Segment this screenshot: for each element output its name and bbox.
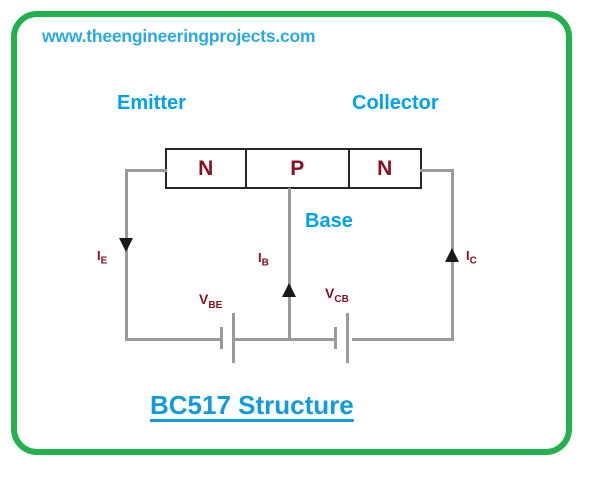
wire-emitter-top [126, 169, 167, 172]
battery-vbe-negative-plate [220, 327, 223, 349]
label-voltage-vcb-symbol: V [325, 285, 334, 301]
npn-structure-box: N P N [165, 148, 422, 189]
current-arrow-ic-icon [445, 248, 459, 262]
label-current-ic-subscript: C [470, 256, 477, 267]
battery-vcb-positive-plate [346, 313, 349, 363]
npn-cell-base-p: P [247, 150, 350, 187]
current-arrow-ib-icon [282, 283, 296, 297]
current-arrow-ie-icon [119, 238, 133, 252]
wire-base-vertical [288, 188, 291, 341]
label-collector: Collector [352, 92, 439, 115]
watermark-url: www.theengineeringprojects.com [42, 26, 315, 47]
wire-emitter-vertical [125, 169, 128, 341]
diagram-canvas: www.theengineeringprojects.com Emitter C… [0, 0, 600, 483]
label-emitter: Emitter [117, 92, 186, 115]
wire-collector-bottom [352, 338, 454, 341]
label-base: Base [305, 210, 353, 233]
green-border-frame [11, 11, 572, 455]
diagram-title: BC517 Structure [150, 390, 354, 421]
label-voltage-vcb-subscript: CB [334, 294, 348, 305]
label-current-ie: IE [97, 248, 107, 267]
wire-base-bottom-left [232, 338, 291, 341]
npn-cell-emitter-n: N [167, 150, 247, 187]
label-current-ic: IC [466, 248, 477, 267]
label-voltage-vbe-subscript: BE [208, 300, 222, 311]
battery-vbe-positive-plate [232, 313, 235, 363]
label-current-ib-subscript: B [262, 258, 269, 269]
label-current-ib: IB [258, 250, 269, 269]
label-voltage-vbe: VBE [199, 291, 222, 311]
label-voltage-vbe-symbol: V [199, 291, 208, 307]
wire-collector-top [420, 169, 454, 172]
wire-emitter-bottom [125, 338, 221, 341]
npn-cell-collector-n: N [350, 150, 420, 187]
label-current-ie-subscript: E [101, 256, 108, 267]
label-voltage-vcb: VCB [325, 285, 349, 305]
battery-vcb-negative-plate [334, 327, 337, 349]
wire-base-bottom-right [288, 338, 334, 341]
